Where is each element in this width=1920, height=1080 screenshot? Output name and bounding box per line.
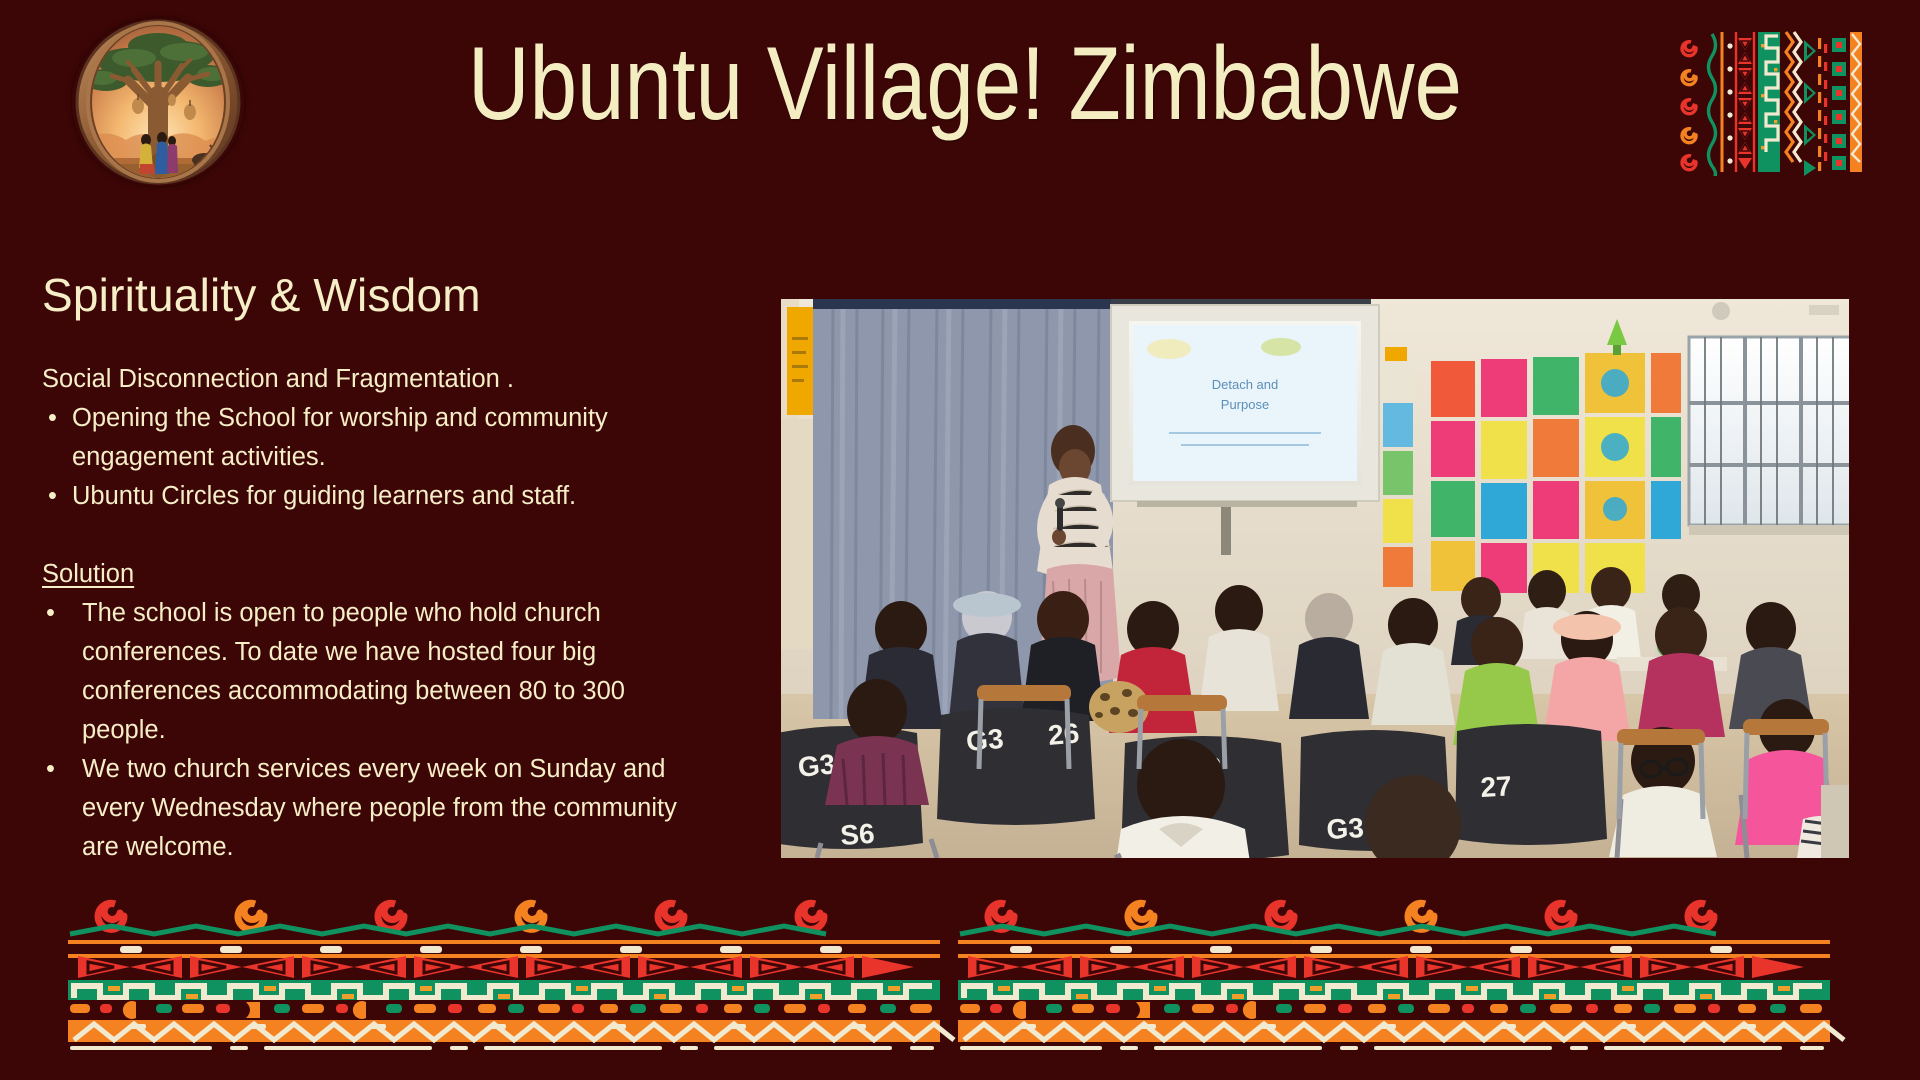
list-item-label: We two church services every week on Sun…	[82, 755, 677, 861]
african-pattern-footer-orange	[60, 1012, 1860, 1056]
problem-bullet-list: • Opening the School for worship and com…	[42, 399, 702, 516]
bullet-icon: •	[46, 594, 55, 633]
list-item-label: The school is open to people who hold ch…	[82, 599, 625, 744]
svg-text:Detach and: Detach and	[1212, 377, 1279, 392]
list-item-label: Ubuntu Circles for guiding learners and …	[72, 482, 576, 510]
bullet-icon: •	[48, 399, 57, 438]
body-text-block: Social Disconnection and Fragmentation .…	[42, 360, 702, 867]
svg-text:Purpose: Purpose	[1221, 397, 1269, 412]
page-title: Ubuntu Village! Zimbabwe	[420, 28, 1511, 140]
list-item-label: Opening the School for worship and commu…	[72, 404, 608, 471]
svg-text:G3: G3	[965, 723, 1005, 757]
svg-text:26: 26	[1047, 717, 1081, 751]
list-item: • The school is open to people who hold …	[42, 594, 702, 750]
african-pattern-vertical	[1666, 24, 1866, 176]
bullet-icon: •	[48, 477, 57, 516]
section-heading: Spirituality & Wisdom	[42, 268, 481, 322]
list-item: • We two church services every week on S…	[42, 750, 702, 867]
intro-line: Social Disconnection and Fragmentation .	[42, 360, 702, 399]
list-item: • Opening the School for worship and com…	[42, 399, 702, 477]
svg-text:G3: G3	[1326, 812, 1365, 845]
bullet-icon: •	[46, 750, 55, 789]
conference-photo: Detach and Purpose	[781, 299, 1849, 858]
slide-canvas: UBUNTU VILLAGE Ubuntu Village! Zimbabwe	[0, 0, 1920, 1080]
solution-heading: Solution	[42, 555, 702, 594]
svg-text:S6: S6	[839, 818, 875, 851]
svg-text:27: 27	[1480, 770, 1513, 803]
list-item: • Ubuntu Circles for guiding learners an…	[42, 477, 702, 516]
solution-bullet-list: • The school is open to people who hold …	[42, 594, 702, 867]
baobab-tree-emblem-icon: UBUNTU VILLAGE	[72, 18, 244, 186]
